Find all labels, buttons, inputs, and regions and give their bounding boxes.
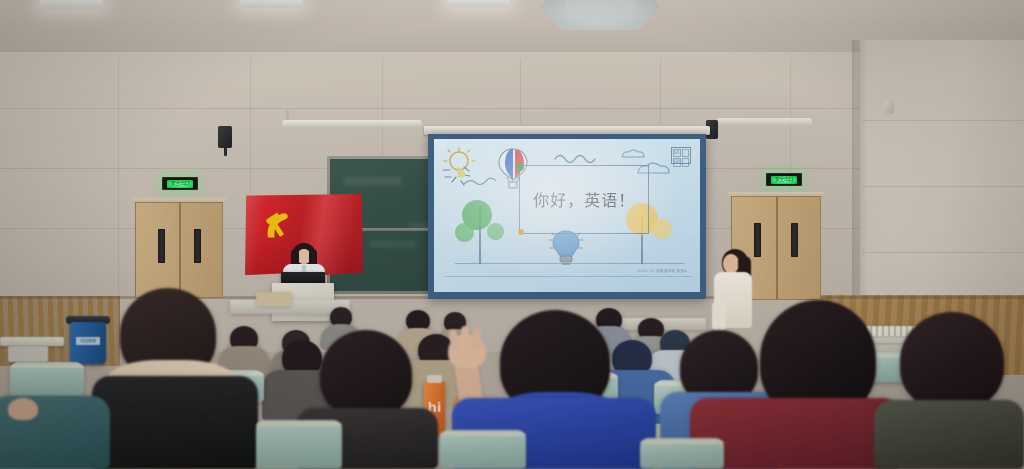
wall-seam-r2 bbox=[862, 186, 1024, 187]
side-table-left-base bbox=[8, 346, 48, 362]
seat-front-2-rim bbox=[440, 432, 526, 436]
wall-seam-r1 bbox=[862, 120, 1024, 121]
wall-seam-r3 bbox=[862, 252, 1024, 253]
title-frame-node-bottom bbox=[518, 229, 524, 235]
slide-title-frame: 你好，英语！ bbox=[519, 165, 649, 234]
wall-speaker-left bbox=[218, 126, 232, 148]
raised-hand-finger-2 bbox=[461, 326, 469, 350]
fluorescent-tube-light bbox=[282, 120, 422, 127]
door-left[interactable] bbox=[135, 202, 223, 298]
ceiling-light-2 bbox=[240, 0, 302, 8]
logo-cell-blank-a bbox=[682, 149, 689, 158]
wall-sensor-right bbox=[884, 100, 894, 114]
chalk-smudge-2 bbox=[370, 241, 416, 247]
yellow-tree-canopy-side bbox=[652, 219, 672, 239]
teacher-face bbox=[723, 254, 739, 273]
door-right-center-seam bbox=[776, 197, 778, 299]
wall-vseam-3 bbox=[382, 58, 383, 158]
wall-vseam-1 bbox=[118, 58, 119, 298]
student-front-right-body bbox=[874, 400, 1024, 469]
door-right-window-a bbox=[754, 223, 761, 257]
running-stick-figure-icon bbox=[463, 173, 497, 191]
wall-vseam-7 bbox=[858, 42, 859, 302]
student-front-center-left-hair bbox=[320, 330, 412, 418]
projected-slide: 你好，英语！ LO bbox=[434, 139, 700, 292]
slide-caption: 2021.10 外国语学院 英语A bbox=[638, 269, 687, 274]
seat-front-3[interactable] bbox=[640, 438, 724, 469]
box-on-desk bbox=[256, 292, 292, 306]
seat-front-3-rim bbox=[640, 440, 724, 444]
wall-vseam-2 bbox=[250, 58, 251, 193]
door-left-window-a bbox=[158, 229, 165, 263]
wall-seam-1 bbox=[0, 108, 860, 109]
seat-front-1[interactable] bbox=[256, 420, 342, 469]
projector-screen: 你好，英语！ LO bbox=[428, 134, 706, 299]
wall-speaker-left-mount bbox=[224, 147, 227, 156]
wall-vseam-5 bbox=[660, 58, 661, 124]
seat-mid-1[interactable] bbox=[10, 362, 84, 396]
seat-front-1-rim bbox=[256, 422, 342, 426]
wall-vseam-4 bbox=[520, 58, 521, 124]
orange-water-bottle-cap bbox=[427, 375, 442, 383]
ceiling-light-1 bbox=[40, 0, 102, 9]
logo-cell-go: GO bbox=[673, 158, 681, 167]
lightbulb-icon bbox=[548, 228, 584, 266]
green-tree-canopy-right bbox=[487, 223, 504, 240]
exit-sign-left-label: 安全出口 bbox=[167, 180, 193, 188]
exit-sign-left: 安全出口 bbox=[162, 177, 198, 190]
exit-sign-right-label: 安全出口 bbox=[771, 176, 797, 184]
door-right-window-b bbox=[791, 223, 798, 257]
green-tree-canopy-left bbox=[455, 223, 474, 242]
student-front-left-dark-jacket bbox=[92, 376, 258, 469]
seat-mid-1-rim bbox=[10, 364, 84, 368]
side-table-left bbox=[0, 337, 64, 346]
ceiling-light-3 bbox=[448, 0, 510, 7]
student-front-right-hair bbox=[900, 312, 1004, 410]
slide-ground-line-2 bbox=[445, 276, 692, 277]
recycling-bin-label: 可回收物 bbox=[76, 337, 100, 345]
exit-sign-right: 安全出口 bbox=[766, 173, 802, 186]
slide-title: 你好，英语！ bbox=[533, 187, 635, 211]
fluorescent-tube-light-right bbox=[716, 118, 812, 125]
student-front-far-left-hand bbox=[8, 398, 38, 420]
hammer-and-sickle-emblem bbox=[262, 208, 306, 242]
logo-cell-lo: LO bbox=[673, 149, 681, 158]
slide-logo-placeholder: LO GO bbox=[671, 147, 691, 164]
classroom-photo-scene: 安全出口 安全出口 bbox=[0, 0, 1024, 469]
chalk-smudge-1 bbox=[344, 177, 402, 185]
zigzag-squiggle-icon bbox=[554, 151, 600, 165]
seat-front-2[interactable] bbox=[440, 430, 526, 469]
door-left-window-b bbox=[194, 229, 201, 263]
ceiling-air-vent-inner bbox=[565, 0, 635, 18]
door-left-center-seam bbox=[179, 203, 181, 297]
logo-cell-blank-b bbox=[682, 158, 689, 167]
teacher-arm bbox=[712, 300, 726, 332]
